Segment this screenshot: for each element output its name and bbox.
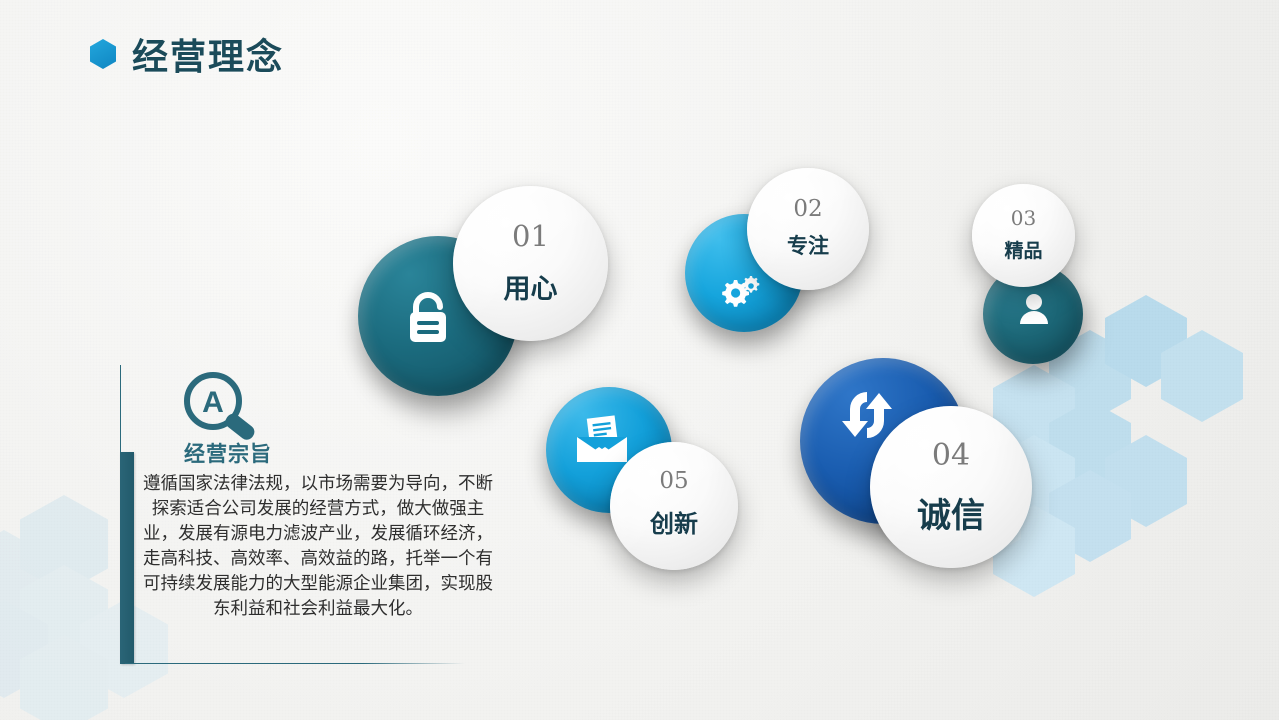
node-05-label-disc[interactable]: 05 创新 [610,442,738,570]
hex-shape [1049,470,1131,562]
envelope-icon [574,415,630,470]
node-02-number: 02 [747,196,869,222]
hex-shape [1161,330,1243,422]
panel-bottom-rule [125,663,465,664]
node-05-label: 创新 [610,504,738,539]
page-title: 经营理念 [132,28,284,80]
node-01-label-disc[interactable]: 01 用心 [453,186,608,341]
disc-gloss [870,406,1032,568]
node-03-label: 精品 [972,236,1075,263]
hex-shape [20,495,108,593]
page-title-bar: 经营理念 [90,28,284,80]
node-03-number: 03 [972,206,1075,230]
slide-canvas: 经营理念 A 经营宗旨 遵循国家法律法规，以市场需要为导向，不断探索适合公司发展… [0,0,1279,720]
node-05-number: 05 [610,468,738,494]
node-02-label: 专注 [747,230,869,260]
panel-body-text: 遵循国家法律法规，以市场需要为导向，不断探索适合公司发展的经营方式，做大做强主业… [142,472,494,622]
panel-heading: 经营宗旨 [168,438,288,468]
hex-shape [1105,435,1187,527]
person-icon [1019,292,1049,331]
node-04-number: 04 [870,438,1032,473]
hex-shape [1049,400,1131,492]
hex-shape [20,635,108,720]
hex-shape [0,530,48,628]
node-03-label-disc[interactable]: 03 精品 [972,184,1075,287]
node-01-number: 01 [453,219,608,253]
disc-gloss [453,186,608,341]
node-04-label: 诚信 [870,488,1032,537]
hex-shape [0,600,48,698]
gears-icon [717,272,761,315]
node-02-label-disc[interactable]: 02 专注 [747,168,869,290]
disc-gloss [747,168,869,290]
node-04-label-disc[interactable]: 04 诚信 [870,406,1032,568]
lock-icon [402,288,454,351]
hexagon-icon [90,39,116,69]
hex-decoration-right [1039,300,1279,720]
panel-accent-bar [120,452,134,664]
hex-shape [1105,295,1187,387]
magnifier-a-icon: A [175,368,279,445]
node-01-label: 用心 [453,267,608,306]
panel-top-rule [120,365,121,453]
svg-text:A: A [202,386,224,419]
hex-shape [20,565,108,663]
